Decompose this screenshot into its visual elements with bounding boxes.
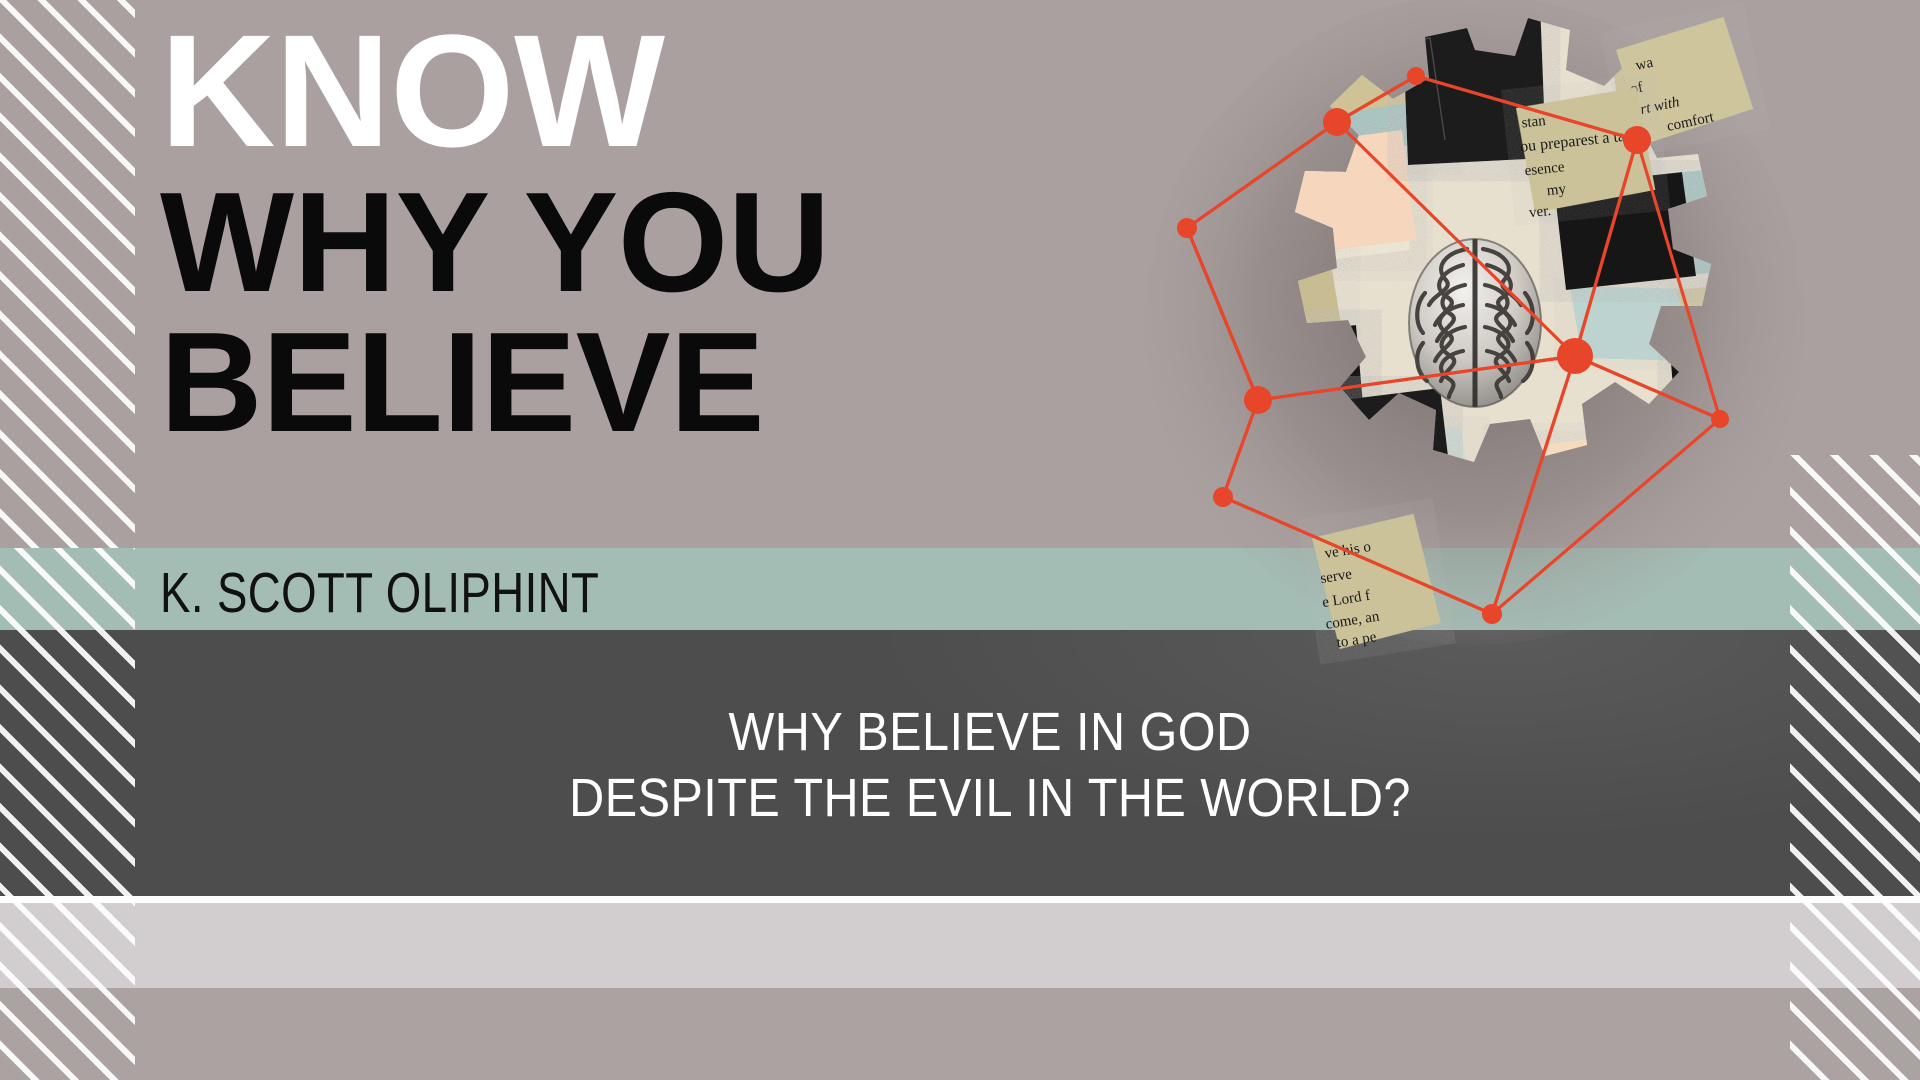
brain-illustration [1409,239,1541,407]
brain-gear-collage-artwork: wa of art with comfort stan ou preparest… [1130,0,1820,680]
network-node [1213,487,1233,507]
network-node [1623,126,1651,154]
svg-text:stan: stan [1521,113,1547,131]
network-node [1711,410,1729,428]
subtitle-line-1: WHY BELIEVE IN GOD [315,700,1665,766]
network-node [1323,108,1351,136]
divider-band-white [0,896,1920,903]
network-node [1177,218,1197,238]
network-node [1244,386,1272,414]
background-band-light [0,903,1920,988]
subtitle-block: WHY BELIEVE IN GOD DESPITE THE EVIL IN T… [240,700,1740,832]
background-band-bottom [0,988,1920,1080]
network-node [1557,338,1593,374]
subtitle-line-2: DESPITE THE EVIL IN THE WORLD? [315,766,1665,832]
network-node [1407,67,1425,85]
slide-canvas: wa of art with comfort stan ou preparest… [0,0,1920,1080]
title-line-know: KNOW [160,0,1160,166]
author-name: K. SCOTT OLIPHINT [160,560,599,626]
title-block: KNOW WHY YOU BELIEVE [160,0,1160,449]
title-line-why-you: WHY YOU [160,166,1160,309]
network-node [1482,604,1502,624]
svg-text:ver.: ver. [1528,203,1552,221]
title-line-believe: BELIEVE [160,310,1160,449]
svg-text:my: my [1546,181,1567,199]
